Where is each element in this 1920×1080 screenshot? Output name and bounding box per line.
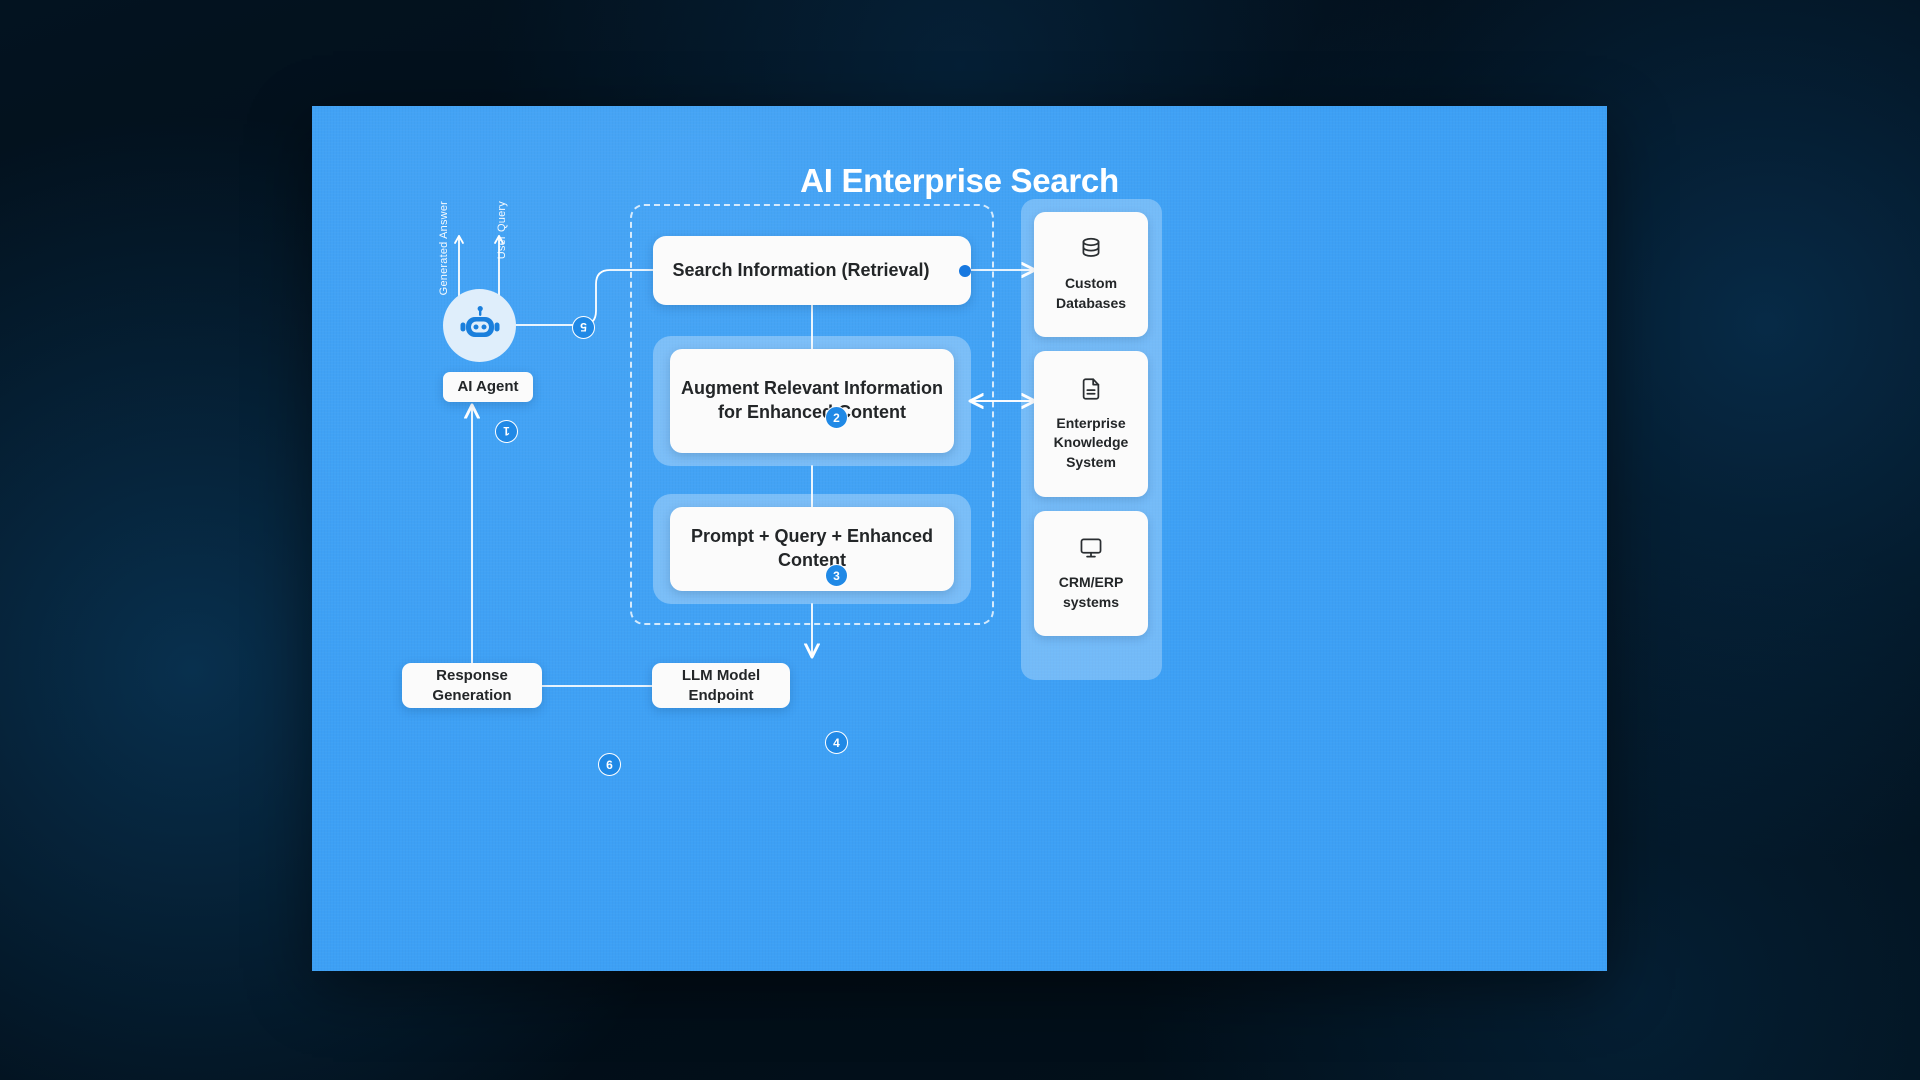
step-badge-3: 3 bbox=[825, 564, 848, 587]
source-card-custom-databases[interactable]: Custom Databases bbox=[1034, 212, 1148, 337]
ai-agent-label-box[interactable]: AI Agent bbox=[443, 372, 533, 402]
status-dot-icon bbox=[959, 265, 971, 277]
step-badge-5: 5 bbox=[572, 316, 595, 339]
source-label-custom-databases: Custom Databases bbox=[1040, 274, 1142, 312]
source-card-enterprise-knowledge[interactable]: Enterprise Knowledge System bbox=[1034, 351, 1148, 497]
document-icon bbox=[1078, 376, 1104, 402]
generated-answer-label: Generated Answer bbox=[438, 201, 450, 295]
node-search-information[interactable]: Search Information (Retrieval) bbox=[653, 236, 971, 305]
source-card-crm-erp[interactable]: CRM/ERP systems bbox=[1034, 511, 1148, 636]
step-badge-6: 6 bbox=[598, 753, 621, 776]
node-prompt-query[interactable]: Prompt + Query + Enhanced Content bbox=[670, 507, 954, 591]
node-augment-label: Augment Relevant Information for Enhance… bbox=[670, 377, 954, 425]
source-label-enterprise-knowledge: Enterprise Knowledge System bbox=[1040, 414, 1142, 471]
node-response-label: Response Generation bbox=[402, 666, 542, 706]
node-augment-information[interactable]: Augment Relevant Information for Enhance… bbox=[670, 349, 954, 453]
node-search-label: Search Information (Retrieval) bbox=[672, 259, 951, 283]
node-prompt-label: Prompt + Query + Enhanced Content bbox=[670, 525, 954, 573]
step-badge-1: 1 bbox=[495, 420, 518, 443]
database-icon bbox=[1078, 236, 1104, 262]
node-response-generation[interactable]: Response Generation bbox=[402, 663, 542, 708]
ai-agent-avatar[interactable] bbox=[443, 289, 516, 362]
step-badge-2: 2 bbox=[825, 406, 848, 429]
node-llm-model-endpoint[interactable]: LLM Model Endpoint bbox=[652, 663, 790, 708]
source-label-crm-erp: CRM/ERP systems bbox=[1040, 573, 1142, 611]
step-badge-4: 4 bbox=[825, 731, 848, 754]
node-llm-label: LLM Model Endpoint bbox=[652, 666, 790, 706]
diagram-card: AI Enterprise Search bbox=[312, 106, 1607, 971]
monitor-icon bbox=[1078, 535, 1104, 561]
ai-agent-label: AI Agent bbox=[457, 377, 518, 397]
user-query-label: User Query bbox=[496, 201, 508, 259]
robot-icon bbox=[458, 304, 502, 348]
